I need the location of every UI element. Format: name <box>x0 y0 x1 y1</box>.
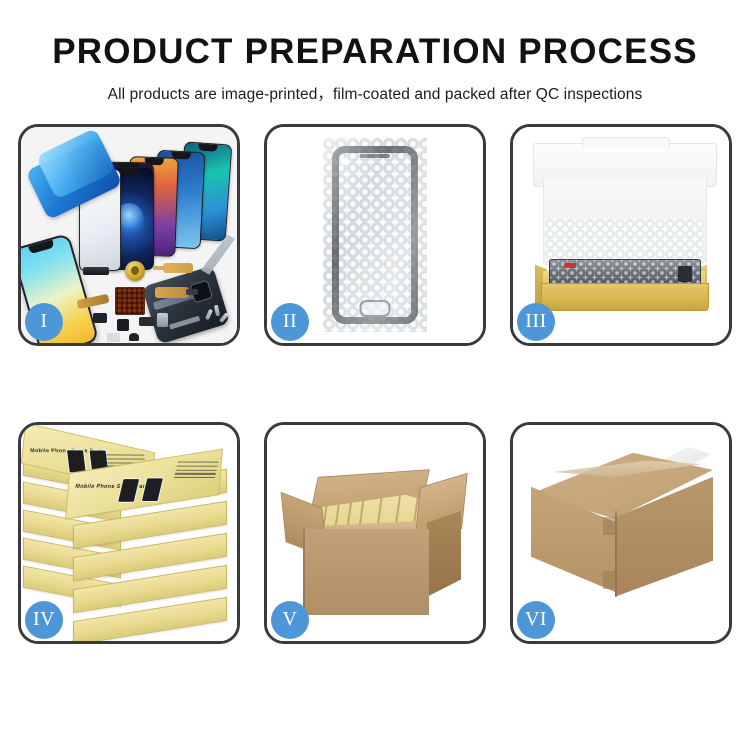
page-subtitle: All products are image-printed，film-coat… <box>0 82 750 104</box>
spec-line <box>176 469 217 470</box>
step-badge-1: I <box>25 303 63 341</box>
housing-label <box>169 316 200 330</box>
step-badge-2: II <box>271 303 309 341</box>
small-component-4 <box>157 313 168 327</box>
process-step-panel-1[interactable]: I <box>18 124 240 346</box>
foam-padding <box>545 219 703 265</box>
process-step-panel-3[interactable]: III <box>510 124 732 346</box>
carton-tab-top <box>603 517 617 535</box>
battery-connector-part <box>83 267 109 275</box>
screws-group <box>205 305 231 327</box>
box-artwork-thumb <box>117 478 140 503</box>
carton-side-face <box>427 511 461 597</box>
carton-seam <box>303 529 305 615</box>
process-step-panel-5[interactable]: V <box>264 422 486 644</box>
small-component-6 <box>129 333 139 341</box>
process-step-grid: I II <box>18 124 732 644</box>
notch-icon <box>118 168 139 175</box>
process-step-panel-6[interactable]: VI <box>510 422 732 644</box>
carton-tab-bottom <box>603 571 617 589</box>
step-badge-5: V <box>271 601 309 639</box>
small-component-5 <box>107 333 120 342</box>
box-spec-lines <box>171 461 218 488</box>
box-brand-label: Mobile Phone Spare Parts <box>74 484 151 490</box>
carton-front-face <box>303 529 429 615</box>
process-step-panel-4[interactable]: Mobile Phone Spare Parts Mobile Phone Sp… <box>18 422 240 644</box>
screw-icon <box>219 312 229 323</box>
spec-line <box>178 461 219 462</box>
process-step-panel-2[interactable]: II <box>264 124 486 346</box>
box-artwork-thumb <box>141 477 164 502</box>
box-front-panel <box>541 283 709 311</box>
step-badge-3: III <box>517 303 555 341</box>
step-badge-6: VI <box>517 601 555 639</box>
notch-icon <box>198 143 218 151</box>
product-red-mark <box>564 263 576 268</box>
bubble-wrapped-screen <box>323 138 427 332</box>
small-component-2 <box>117 319 129 331</box>
spec-line <box>174 477 215 478</box>
screw-icon <box>214 304 220 316</box>
page-title: PRODUCT PREPARATION PROCESS <box>0 34 750 71</box>
spec-line <box>102 454 144 455</box>
page-header: PRODUCT PREPARATION PROCESS All products… <box>0 0 750 104</box>
flex-cable-part-a <box>163 263 193 273</box>
film-sheen <box>323 138 427 332</box>
small-component-1 <box>93 313 107 323</box>
product-connector <box>678 266 692 282</box>
speaker-coil-part <box>125 261 145 281</box>
spec-line <box>103 458 145 459</box>
screw-icon <box>205 308 213 320</box>
small-component-3 <box>139 317 155 326</box>
spec-line <box>177 465 218 466</box>
copper-shield-part <box>115 287 145 315</box>
flex-cable-part-b <box>155 287 189 298</box>
spec-line <box>175 473 216 474</box>
notch-icon <box>28 239 54 253</box>
step-badge-4: IV <box>25 601 63 639</box>
